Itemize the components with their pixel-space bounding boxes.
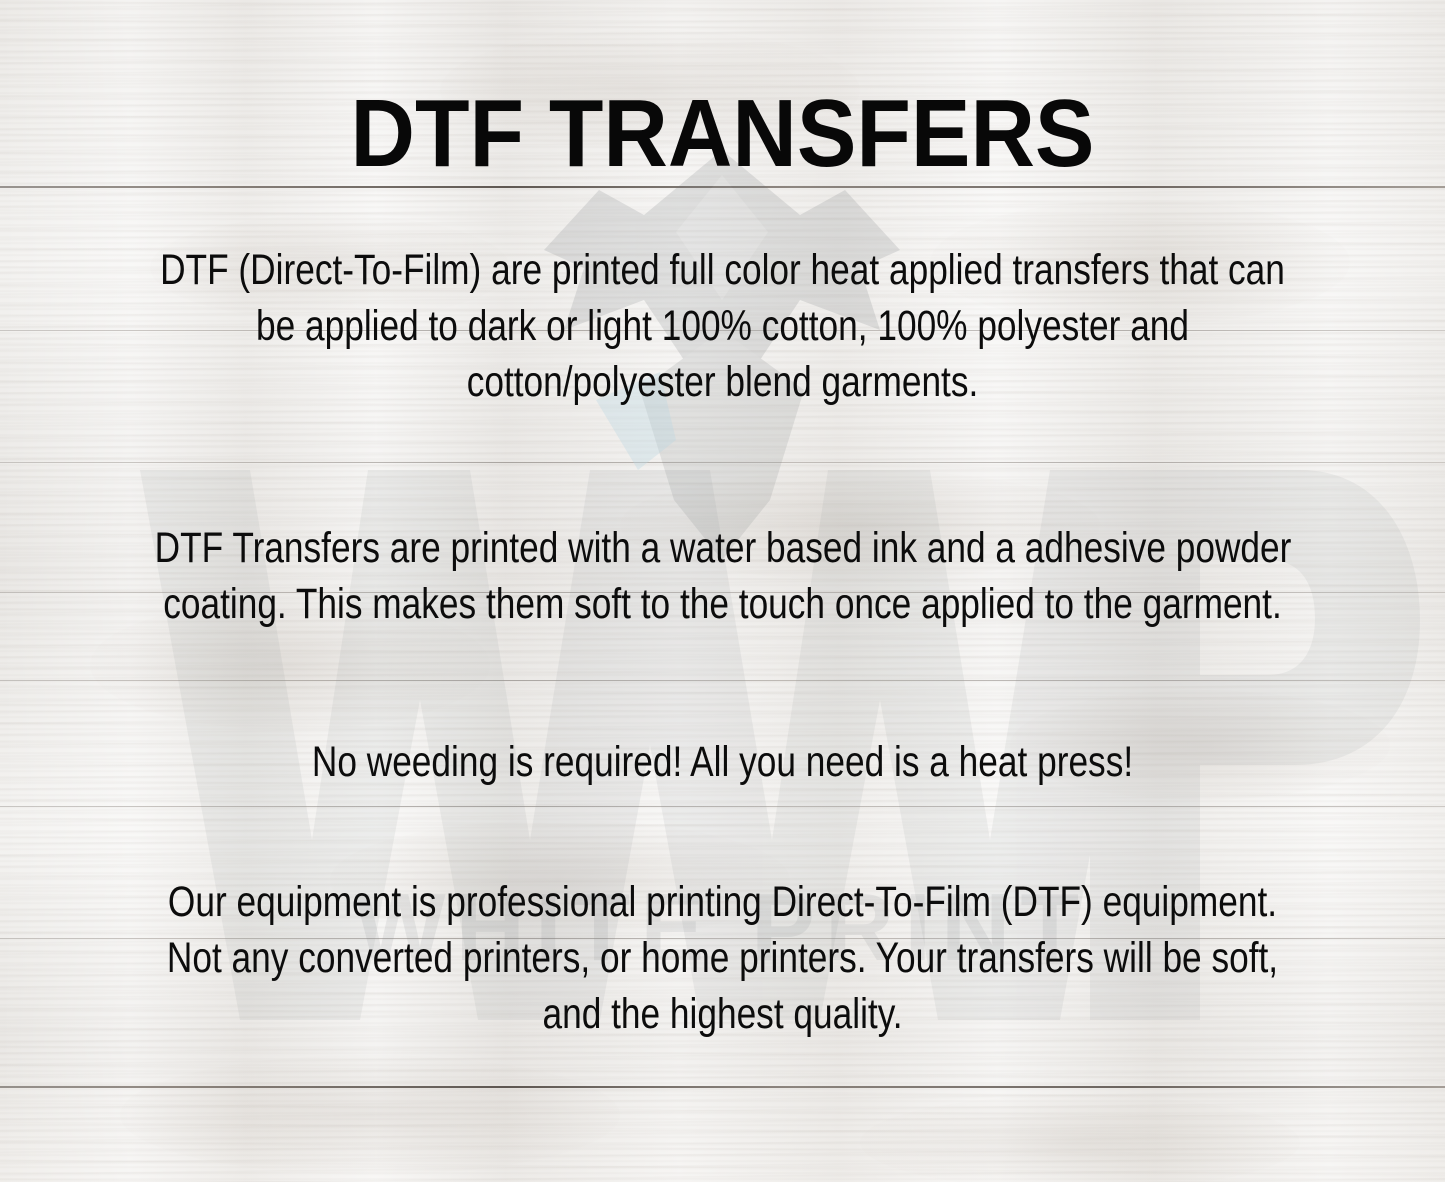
paragraph-4-line-2: Not any converted printers, or home prin… bbox=[155, 931, 1291, 987]
paragraph-2: DTF Transfers are printed with a water b… bbox=[155, 521, 1291, 633]
paragraph-1: DTF (Direct-To-Film) are printed full co… bbox=[155, 243, 1291, 411]
dtf-transfers-info-graphic: WHITE PRINT DTF TRANSFERS DTF (Direct-To… bbox=[0, 0, 1445, 1182]
paragraph-1-line-1: DTF (Direct-To-Film) are printed full co… bbox=[155, 243, 1291, 299]
paragraph-4-line-1: Our equipment is professional printing D… bbox=[155, 875, 1291, 931]
paragraph-1-line-2: be applied to dark or light 100% cotton,… bbox=[155, 299, 1291, 355]
paragraph-1-line-3: cotton/polyester blend garments. bbox=[155, 355, 1291, 411]
paragraph-3-line-1: No weeding is required! All you need is … bbox=[155, 735, 1291, 791]
paragraph-2-line-2: coating. This makes them soft to the tou… bbox=[155, 577, 1291, 633]
text-content: DTF TRANSFERS DTF (Direct-To-Film) are p… bbox=[0, 0, 1445, 1182]
paragraph-4: Our equipment is professional printing D… bbox=[155, 875, 1291, 1043]
paragraph-2-line-1: DTF Transfers are printed with a water b… bbox=[155, 521, 1291, 577]
paragraph-4-line-3: and the highest quality. bbox=[155, 987, 1291, 1043]
page-title: DTF TRANSFERS bbox=[51, 86, 1395, 182]
paragraph-3: No weeding is required! All you need is … bbox=[155, 735, 1291, 791]
